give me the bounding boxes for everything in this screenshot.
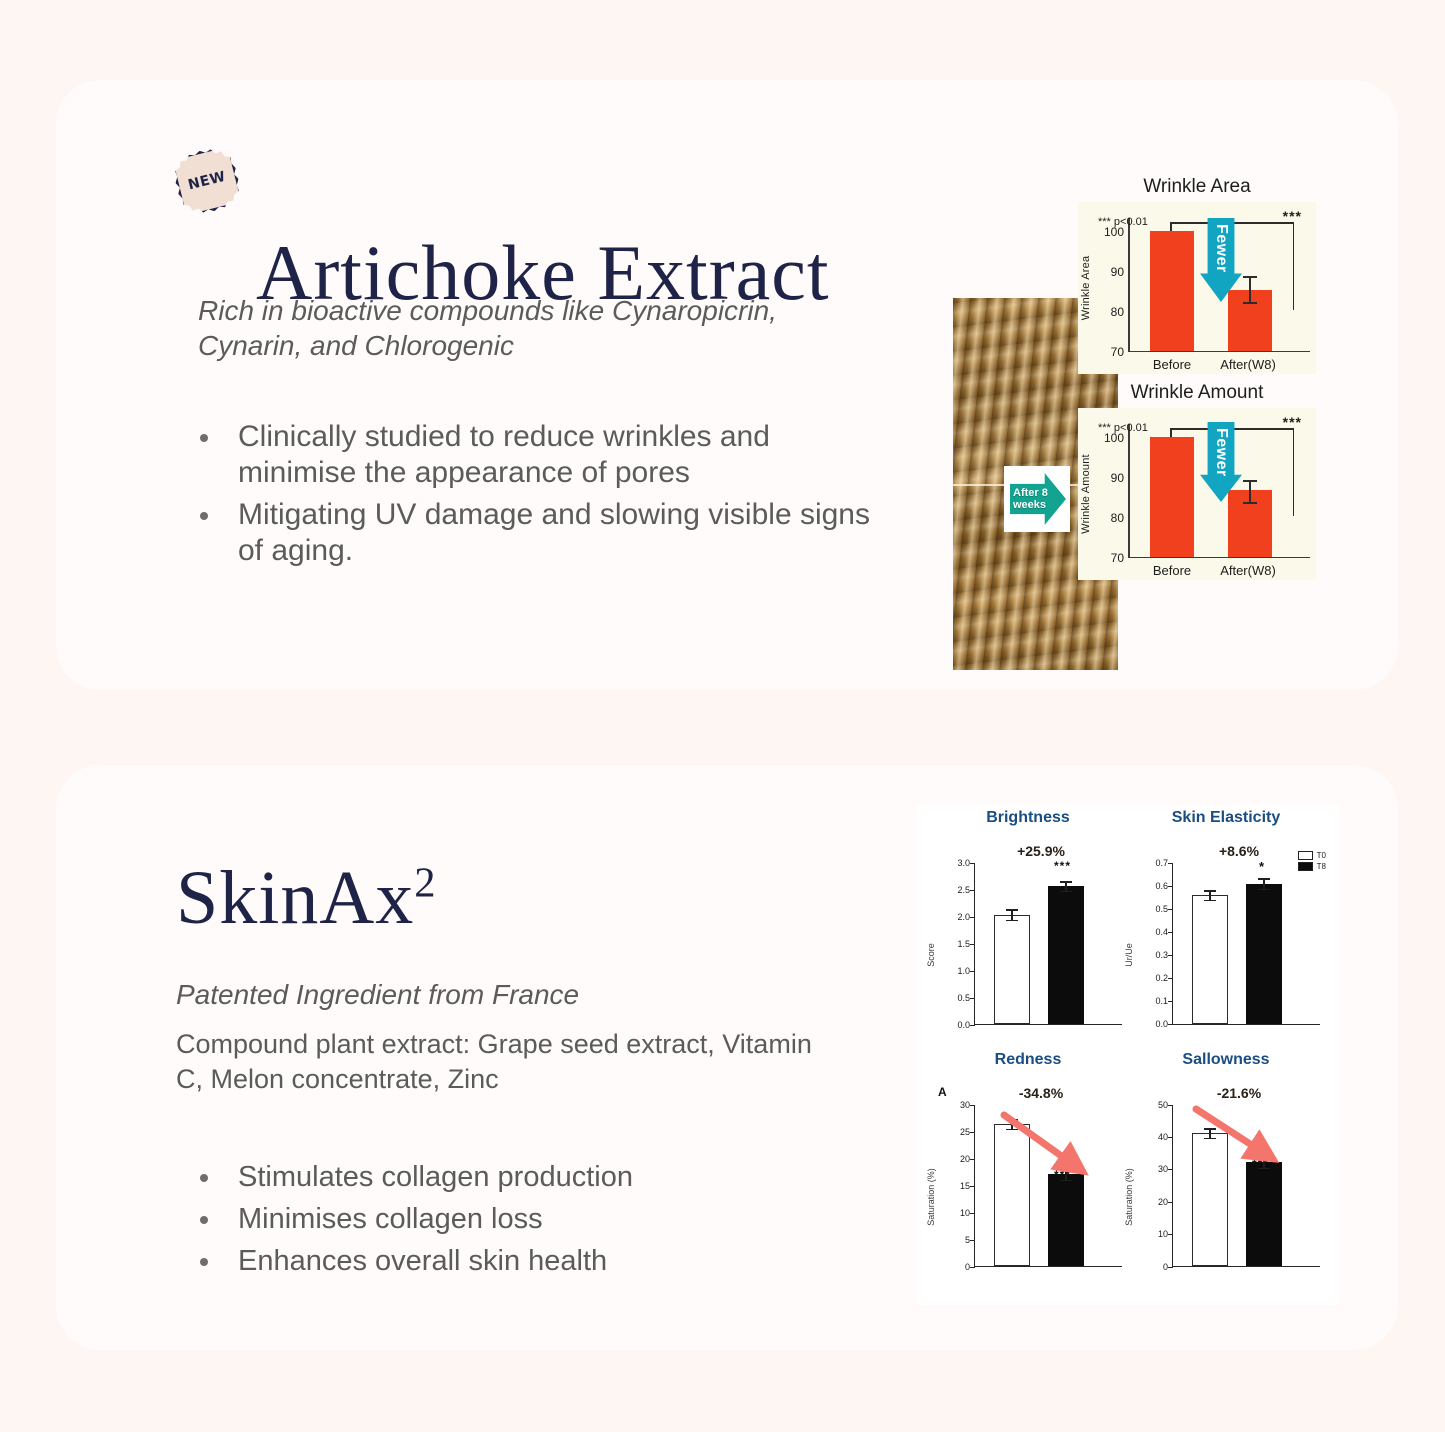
chart-title: Sallowness — [1126, 1051, 1326, 1069]
p-value-note: *** p<0.01 — [1098, 216, 1148, 228]
y-tick: 1.0 — [928, 966, 970, 976]
error-bar-t0 — [1209, 890, 1211, 901]
chart-skin-elasticity: Skin Elasticity +8.6% T0 T8 Ur/Ue 0.7 0.… — [1126, 805, 1326, 1045]
x-tick-label: Before — [1132, 563, 1212, 578]
after-8-weeks-label: After 8 weeks — [1004, 487, 1048, 512]
delta-label: -21.6% — [1126, 1085, 1326, 1101]
chart-brightness: Brightness +25.9% Score 3.0 2.5 2.0 1.5 … — [928, 805, 1128, 1045]
bar-before — [1150, 231, 1194, 351]
bar-t0 — [994, 915, 1030, 1024]
artichoke-copy-block: NEW Artichoke Extract Rich in bioactive … — [176, 142, 906, 575]
y-tick: 80 — [1096, 511, 1124, 525]
delta-label: +8.6% — [1126, 843, 1326, 859]
y-axis-label: Wrinkle Amount — [1080, 454, 1092, 534]
fewer-label: Fewer — [1212, 224, 1230, 273]
y-tick: 20 — [1126, 1197, 1168, 1207]
y-tick: 3.0 — [928, 858, 970, 868]
y-axis — [974, 1105, 975, 1267]
y-tick: 0 — [1126, 1262, 1168, 1272]
chart-title: Wrinkle Area — [1078, 176, 1316, 198]
y-tick: 0 — [928, 1262, 970, 1272]
new-badge-label: NEW — [187, 169, 228, 194]
skinax-title-main: SkinAx — [176, 856, 414, 940]
y-tick: 70 — [1096, 551, 1124, 565]
chart-plot-area: Wrinkle Amount 100 90 80 70 *** p<0.01 *… — [1078, 408, 1316, 580]
y-tick: 5 — [928, 1235, 970, 1245]
skinax-subtitle: Patented Ingredient from France — [176, 978, 816, 1013]
y-tick: 50 — [1126, 1100, 1168, 1110]
y-tick: 30 — [1126, 1164, 1168, 1174]
error-bar-after — [1249, 480, 1251, 504]
chart-wrinkle-area: Wrinkle Area Wrinkle Area 100 90 80 70 *… — [1078, 176, 1316, 376]
chart-title: Wrinkle Amount — [1078, 382, 1316, 404]
x-tick-label: After(W8) — [1208, 563, 1288, 578]
chart-wrinkle-amount: Wrinkle Amount Wrinkle Amount 100 90 80 … — [1078, 382, 1316, 582]
chart-plot-area: Saturation (%) 30 25 20 15 10 5 0 *** — [928, 1105, 1128, 1281]
y-tick: 70 — [1096, 345, 1124, 359]
y-tick: 0.3 — [1126, 950, 1168, 960]
list-item: Clinically studied to reduce wrinkles an… — [192, 419, 878, 491]
y-tick: 10 — [928, 1208, 970, 1218]
y-tick: 90 — [1096, 471, 1124, 485]
chart-plot-area: Score 3.0 2.5 2.0 1.5 1.0 0.5 0.0 *** — [928, 863, 1128, 1039]
y-tick: 0.5 — [1126, 904, 1168, 914]
decrease-arrow-icon — [1188, 1103, 1298, 1175]
p-value-note: *** p<0.01 — [1098, 422, 1148, 434]
after-8-weeks-badge: After 8 weeks — [1004, 466, 1070, 532]
x-tick-label: After(W8) — [1208, 357, 1288, 372]
y-axis — [1172, 1105, 1173, 1267]
y-axis — [1172, 863, 1173, 1025]
chart-plot-area: Wrinkle Area 100 90 80 70 *** p<0.01 ***… — [1078, 202, 1316, 374]
y-tick: 2.5 — [928, 885, 970, 895]
y-tick: 80 — [1096, 305, 1124, 319]
chart-title: Redness — [928, 1051, 1128, 1069]
y-tick: 30 — [928, 1100, 970, 1110]
artichoke-card: NEW Artichoke Extract Rich in bioactive … — [56, 80, 1398, 690]
bar-t8 — [1246, 884, 1282, 1024]
after-8-weeks-line1: After 8 — [1013, 487, 1048, 499]
skinax-figure: Brightness +25.9% Score 3.0 2.5 2.0 1.5 … — [918, 805, 1338, 1305]
error-bar-t8 — [1065, 881, 1067, 892]
y-tick: 0.7 — [1126, 858, 1168, 868]
y-tick: 0.1 — [1126, 996, 1168, 1006]
y-axis — [1128, 218, 1130, 352]
y-tick: 15 — [928, 1181, 970, 1191]
y-tick: 0.6 — [1126, 881, 1168, 891]
legend-item-t0: T0 — [1298, 851, 1326, 860]
legend-label: T0 — [1317, 851, 1326, 860]
y-tick: 1.5 — [928, 939, 970, 949]
significance-marker: *** — [1054, 859, 1071, 873]
fewer-label: Fewer — [1212, 428, 1230, 477]
y-tick: 0.0 — [928, 1020, 970, 1030]
list-item: Enhances overall skin health — [192, 1243, 878, 1279]
delta-label: -34.8% — [928, 1085, 1128, 1101]
bar-t8 — [1048, 1174, 1084, 1266]
y-tick: 40 — [1126, 1132, 1168, 1142]
list-item: Stimulates collagen production — [192, 1159, 878, 1195]
chart-title: Brightness — [928, 809, 1128, 827]
significance-marker: * — [1259, 859, 1265, 874]
list-item: Minimises collagen loss — [192, 1201, 878, 1237]
decrease-arrow-icon — [996, 1107, 1106, 1187]
y-tick: 90 — [1096, 265, 1124, 279]
y-tick: 25 — [928, 1127, 970, 1137]
skinax-card: SkinAx2 Patented Ingredient from France … — [56, 765, 1398, 1350]
chart-plot-area: Saturation (%) 50 40 30 20 10 0 *** — [1126, 1105, 1326, 1281]
page-title-artichoke: Artichoke Extract — [176, 142, 906, 312]
error-bar-t8 — [1263, 878, 1265, 890]
skinax-title-superscript: 2 — [414, 860, 436, 907]
skinax-lead: Compound plant extract: Grape seed extra… — [176, 1027, 836, 1097]
chart-plot-area: Ur/Ue 0.7 0.6 0.5 0.4 0.3 0.2 0.1 0.0 * — [1126, 863, 1326, 1039]
y-tick: 2.0 — [928, 912, 970, 922]
skinax-bullet-list: Stimulates collagen production Minimises… — [176, 1159, 906, 1280]
bar-t8 — [1246, 1162, 1282, 1266]
skinax-copy-block: SkinAx2 Patented Ingredient from France … — [176, 860, 906, 1286]
y-axis — [974, 863, 975, 1025]
artichoke-title-row: NEW Artichoke Extract — [176, 142, 906, 260]
list-item: Mitigating UV damage and slowing visible… — [192, 497, 878, 569]
artichoke-figure: After 8 weeks Wrinkle Area Wrinkle Area … — [896, 170, 1316, 590]
bar-t8 — [1048, 886, 1084, 1024]
error-bar-t0 — [1011, 909, 1013, 921]
page-title-skinax: SkinAx2 — [176, 860, 906, 936]
y-axis — [1128, 424, 1130, 558]
y-tick: 20 — [928, 1154, 970, 1164]
artichoke-bullet-list: Clinically studied to reduce wrinkles an… — [176, 419, 906, 569]
bar-before — [1150, 437, 1194, 557]
after-8-weeks-line2: weeks — [1013, 499, 1046, 511]
chart-sallowness: Sallowness -21.6% Saturation (%) 50 40 3… — [1126, 1047, 1326, 1287]
chart-redness: Redness A -34.8% Saturation (%) 30 25 20… — [928, 1047, 1128, 1287]
legend-swatch-t0 — [1298, 851, 1313, 860]
delta-label: +25.9% — [928, 843, 1128, 859]
y-tick: 0.2 — [1126, 973, 1168, 983]
error-bar-after — [1249, 276, 1251, 304]
y-tick: 0.4 — [1126, 927, 1168, 937]
x-tick-label: Before — [1132, 357, 1212, 372]
chart-title: Skin Elasticity — [1126, 809, 1326, 827]
y-tick: 0.0 — [1126, 1019, 1168, 1029]
y-tick: 10 — [1126, 1229, 1168, 1239]
y-axis-label: Wrinkle Area — [1080, 256, 1092, 321]
y-tick: 0.5 — [928, 993, 970, 1003]
bar-t0 — [1192, 895, 1228, 1024]
